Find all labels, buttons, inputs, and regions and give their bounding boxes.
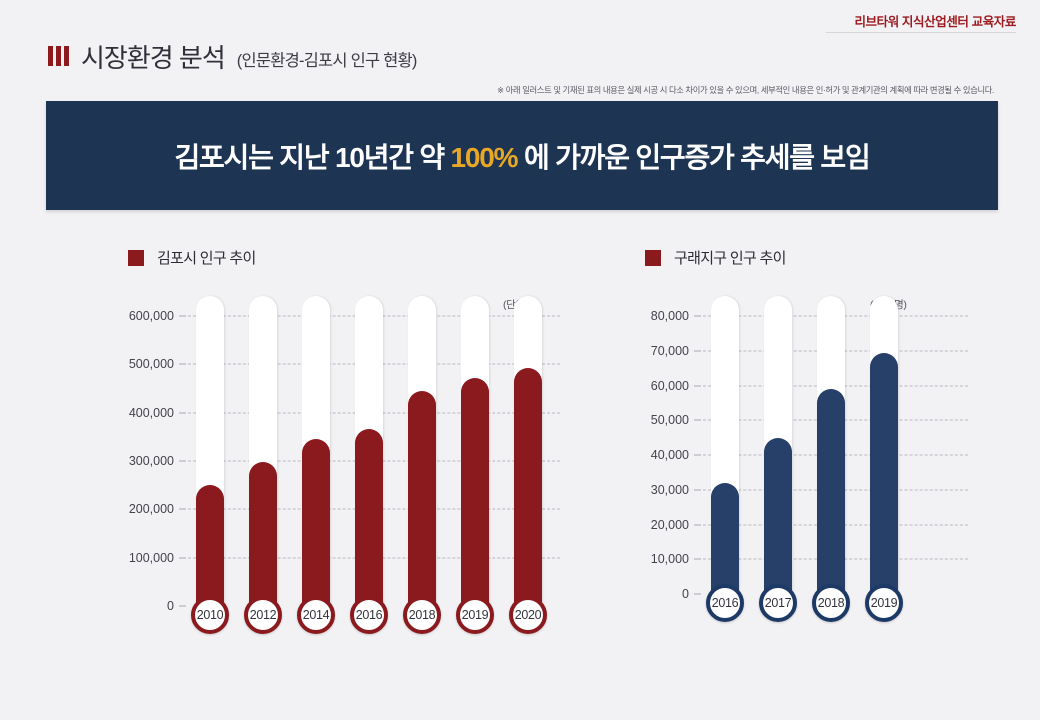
bar-fill: [461, 378, 489, 606]
bar-fill: [408, 391, 436, 606]
y-axis-tick: [179, 364, 186, 365]
y-axis-tick: [179, 412, 186, 413]
y-axis-tick-label: 600,000: [129, 309, 174, 323]
y-axis: 0100,000200,000300,000400,000500,000600,…: [128, 316, 188, 606]
y-axis-tick-label: 70,000: [651, 344, 689, 358]
y-axis-tick-label: 0: [682, 587, 689, 601]
bar-column[interactable]: 2012: [249, 316, 277, 606]
headline-suffix: 에 가까운 인구증가 추세를 보임: [517, 142, 869, 173]
bar-year-bulb[interactable]: 2018: [403, 596, 441, 634]
bar-column[interactable]: 2020: [514, 316, 542, 606]
y-axis-tick: [179, 461, 186, 462]
bar-fill: [817, 389, 845, 594]
chart-header: 구래지구 인구 추이: [645, 250, 975, 266]
y-axis-tick-label: 100,000: [129, 551, 174, 565]
bar-year-bulb[interactable]: 2014: [297, 596, 335, 634]
bar-year-bulb[interactable]: 2012: [244, 596, 282, 634]
y-axis-tick: [694, 385, 701, 386]
brand-bar: 리브타워 지식산업센터 교육자료: [0, 0, 1040, 34]
bar-year-bulb[interactable]: 2010: [191, 596, 229, 634]
bar-year-bulb[interactable]: 2019: [865, 584, 903, 622]
chart-header: 김포시 인구 추이: [128, 250, 598, 266]
y-axis-tick: [694, 559, 701, 560]
bar-fill: [302, 439, 330, 606]
brand-divider: [826, 32, 1016, 33]
y-axis-tick: [694, 350, 701, 351]
legend-swatch-icon: [645, 250, 661, 266]
y-axis-tick-label: 300,000: [129, 454, 174, 468]
y-axis-tick: [694, 455, 701, 456]
bar-series: 2010201220142016201820192020: [188, 316, 559, 606]
bar-fill: [355, 429, 383, 606]
y-axis-tick: [694, 316, 701, 317]
bar-year-bulb[interactable]: 2016: [706, 584, 744, 622]
headline-text: 김포시는 지난 10년간 약 100% 에 가까운 인구증가 추세를 보임: [174, 136, 869, 176]
y-axis-tick: [694, 524, 701, 525]
y-axis-tick-label: 0: [167, 599, 174, 613]
bar-series: 2016201720182019: [703, 316, 915, 594]
y-axis-tick: [179, 557, 186, 558]
bar-year-bulb[interactable]: 2020: [509, 596, 547, 634]
bar-year-bulb[interactable]: 2016: [350, 596, 388, 634]
bar-fill: [514, 368, 542, 606]
headline-prefix: 김포시는 지난 10년간 약: [174, 142, 450, 173]
page-title: 시장환경 분석 (인문환경-김포시 인구 현황): [48, 45, 417, 71]
legend-swatch-icon: [128, 250, 144, 266]
y-axis-tick: [694, 489, 701, 490]
y-axis-tick: [179, 509, 186, 510]
bar-fill: [870, 353, 898, 595]
y-axis-tick-label: 200,000: [129, 502, 174, 516]
bar-column[interactable]: 2016: [355, 316, 383, 606]
bar-fill: [711, 483, 739, 594]
bar-year-bulb[interactable]: 2017: [759, 584, 797, 622]
headline-banner: 김포시는 지난 10년간 약 100% 에 가까운 인구증가 추세를 보임: [46, 101, 998, 210]
bar-fill: [249, 462, 277, 606]
bar-year-bulb[interactable]: 2019: [456, 596, 494, 634]
y-axis-tick-label: 30,000: [651, 483, 689, 497]
bar-column[interactable]: 2018: [408, 316, 436, 606]
bar-column[interactable]: 2014: [302, 316, 330, 606]
bar-column[interactable]: 2010: [196, 316, 224, 606]
page-title-main: 시장환경 분석: [81, 45, 225, 71]
bar-column[interactable]: 2017: [764, 316, 792, 594]
y-axis-tick-label: 50,000: [651, 413, 689, 427]
y-axis-tick: [694, 420, 701, 421]
y-axis-tick-label: 500,000: [129, 357, 174, 371]
page-title-sub: (인문환경-김포시 인구 현황): [237, 53, 417, 70]
y-axis-tick: [179, 606, 186, 607]
bar-column[interactable]: 2016: [711, 316, 739, 594]
triple-bar-icon: [48, 46, 69, 66]
chart-gurae-population: 구래지구 인구 추이 (단위:명) 010,00020,00030,00040,…: [645, 250, 975, 266]
bar-fill: [764, 438, 792, 594]
y-axis: 010,00020,00030,00040,00050,00060,00070,…: [645, 316, 703, 594]
bar-column[interactable]: 2018: [817, 316, 845, 594]
y-axis-tick: [179, 316, 186, 317]
y-axis-tick: [694, 594, 701, 595]
bar-year-bulb[interactable]: 2018: [812, 584, 850, 622]
y-axis-tick-label: 20,000: [651, 518, 689, 532]
headline-highlight: 100%: [451, 142, 518, 173]
disclaimer-note: ※ 아래 일러스트 및 기재된 표의 내용은 실제 시공 시 다소 차이가 있을…: [497, 84, 994, 96]
y-axis-tick-label: 10,000: [651, 552, 689, 566]
chart-kimpo-population: 김포시 인구 추이 (단위:명) 0100,000200,000300,0004…: [128, 250, 598, 266]
bar-column[interactable]: 2019: [870, 316, 898, 594]
y-axis-tick-label: 40,000: [651, 448, 689, 462]
y-axis-tick-label: 400,000: [129, 406, 174, 420]
bar-fill: [196, 485, 224, 606]
y-axis-tick-label: 80,000: [651, 309, 689, 323]
chart-title: 구래지구 인구 추이: [674, 251, 786, 266]
bar-column[interactable]: 2019: [461, 316, 489, 606]
y-axis-tick-label: 60,000: [651, 379, 689, 393]
chart-title: 김포시 인구 추이: [157, 251, 256, 266]
brand-label: 리브타워 지식산업센터 교육자료: [854, 11, 1016, 30]
